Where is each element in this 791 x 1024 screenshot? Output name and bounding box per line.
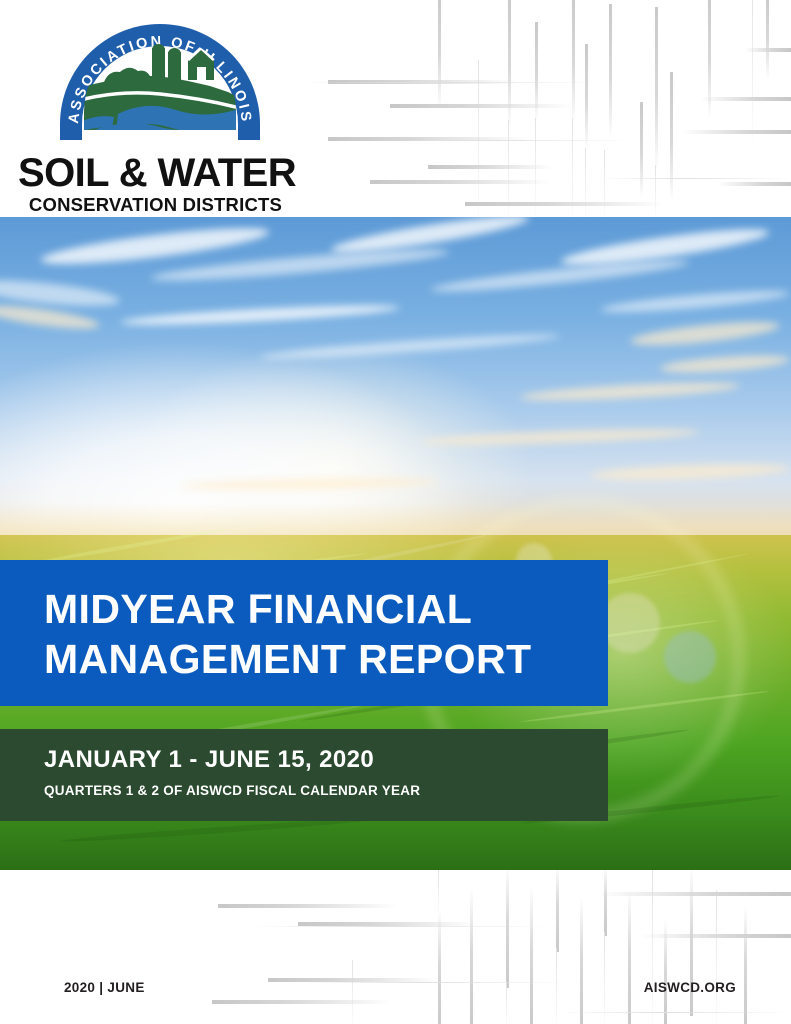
report-title: MIDYEAR FINANCIAL MANAGEMENT REPORT [44, 584, 592, 684]
report-quarter-detail: QUARTERS 1 & 2 OF AISWCD FISCAL CALENDAR… [44, 783, 420, 798]
cover-photo: MIDYEAR FINANCIAL MANAGEMENT REPORT JANU… [0, 217, 791, 870]
date-banner: JANUARY 1 - JUNE 15, 2020 QUARTERS 1 & 2… [0, 729, 608, 821]
report-title-line1: MIDYEAR FINANCIAL [44, 584, 592, 634]
report-cover-page: ASSOCIATION OF ILLINOIS [0, 0, 791, 1024]
cover-footer [0, 870, 791, 1024]
footer-decorative-lines [0, 870, 791, 1024]
logo-emblem-icon: ASSOCIATION OF ILLINOIS [60, 24, 260, 146]
logo-name-primary: SOIL & WATER [18, 152, 293, 194]
footer-issue-date: 2020 | JUNE [64, 980, 145, 995]
logo-name-secondary: CONSERVATION DISTRICTS [18, 194, 293, 216]
logo-wordmark: SOIL & WATER CONSERVATION DISTRICTS [18, 152, 293, 216]
cover-header: ASSOCIATION OF ILLINOIS [0, 0, 791, 217]
title-banner: MIDYEAR FINANCIAL MANAGEMENT REPORT [0, 560, 608, 706]
report-date-range: JANUARY 1 - JUNE 15, 2020 [44, 746, 374, 774]
report-title-line2: MANAGEMENT REPORT [44, 634, 592, 684]
photo-sky [0, 217, 791, 547]
footer-website[interactable]: AISWCD.ORG [644, 980, 736, 995]
aiswcd-logo: ASSOCIATION OF ILLINOIS [18, 24, 293, 199]
